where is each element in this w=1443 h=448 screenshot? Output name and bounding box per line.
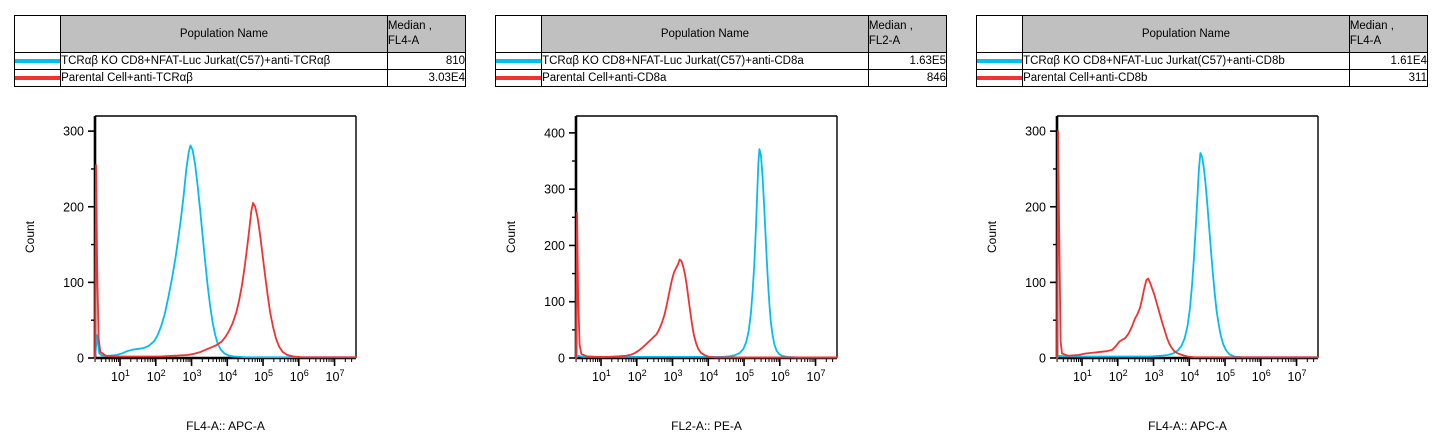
y-tick-label: 0: [1039, 352, 1046, 366]
x-tick-label: 103: [183, 368, 202, 384]
histogram-panel-3: Population Name Median , FL4-A TCRαβ KO …: [962, 0, 1443, 448]
y-tick-label: 100: [63, 276, 84, 290]
y-tick-label: 300: [1025, 125, 1046, 139]
y-tick-label: 100: [1025, 276, 1046, 290]
histogram-trace-cyan: [576, 149, 837, 358]
population-legend-table-1: Population Name Median , FL4-A TCRαβ KO …: [14, 15, 466, 87]
y-axis-title: Count: [23, 220, 37, 253]
x-tick-label: 107: [326, 368, 345, 384]
x-tick-label: 107: [1288, 368, 1307, 384]
header-median-line2: FL4-A: [1350, 34, 1427, 49]
header-median-line2: FL4-A: [388, 34, 465, 49]
x-tick-label: 105: [1216, 368, 1235, 384]
header-median: Median , FL4-A: [387, 16, 465, 53]
x-tick-label: 106: [1252, 368, 1271, 384]
header-median-line2: FL2-A: [869, 34, 946, 49]
header-swatch-blank: [977, 16, 1023, 53]
color-swatch-cyan: [496, 59, 541, 63]
y-tick-label: 300: [544, 183, 565, 197]
table-row: TCRαβ KO CD8+NFAT-Luc Jurkat(C57)+anti-C…: [496, 53, 947, 70]
y-tick-label: 200: [63, 200, 84, 214]
population-name-cell: Parental Cell+anti-CD8a: [542, 70, 869, 87]
y-axis-title: Count: [504, 220, 518, 253]
header-median: Median , FL4-A: [1349, 16, 1427, 53]
header-population-name: Population Name: [1023, 16, 1350, 53]
table-header-row: Population Name Median , FL4-A: [977, 16, 1428, 53]
population-name-cell: TCRαβ KO CD8+NFAT-Luc Jurkat(C57)+anti-C…: [542, 53, 869, 70]
x-tick-label: 105: [254, 368, 273, 384]
x-tick-label: 102: [1109, 368, 1128, 384]
legend-swatch-cell: [977, 53, 1023, 70]
histogram-svg-3: 0100200300101102103104105106107CountFL4-…: [962, 104, 1443, 448]
x-tick-label: 104: [1180, 368, 1199, 384]
x-tick-label: 107: [807, 368, 826, 384]
legend-swatch-cell: [496, 70, 542, 87]
x-tick-label: 101: [111, 368, 130, 384]
color-swatch-red: [496, 76, 541, 80]
histogram-panel-1: Population Name Median , FL4-A TCRαβ KO …: [0, 0, 481, 448]
table-row: Parental Cell+anti-CD8b 311: [977, 70, 1428, 87]
header-population-name: Population Name: [542, 16, 869, 53]
color-swatch-red: [15, 76, 60, 80]
population-name-cell: Parental Cell+anti-TCRαβ: [61, 70, 388, 87]
histogram-trace-red: [95, 165, 356, 358]
histogram-trace-red: [576, 213, 837, 358]
y-tick-label: 0: [77, 352, 84, 366]
table-row: TCRαβ KO CD8+NFAT-Luc Jurkat(C57)+anti-C…: [977, 53, 1428, 70]
header-median: Median , FL2-A: [868, 16, 946, 53]
table-row: TCRαβ KO CD8+NFAT-Luc Jurkat(C57)+anti-T…: [15, 53, 466, 70]
y-axis-title: Count: [985, 220, 999, 253]
color-swatch-cyan: [15, 59, 60, 63]
x-tick-label: 101: [1073, 368, 1092, 384]
median-value-cell: 3.03E4: [387, 70, 465, 87]
median-value-cell: 846: [868, 70, 946, 87]
legend-swatch-cell: [15, 70, 61, 87]
y-tick-label: 400: [544, 126, 565, 140]
x-tick-label: 104: [699, 368, 718, 384]
x-tick-label: 104: [218, 368, 237, 384]
population-name-cell: Parental Cell+anti-CD8b: [1023, 70, 1350, 87]
header-median-line1: Median ,: [388, 19, 465, 34]
table-row: Parental Cell+anti-TCRαβ 3.03E4: [15, 70, 466, 87]
histogram-panel-2: Population Name Median , FL2-A TCRαβ KO …: [481, 0, 962, 448]
color-swatch-cyan: [977, 59, 1022, 63]
legend-swatch-cell: [977, 70, 1023, 87]
median-value-cell: 1.63E5: [868, 53, 946, 70]
x-tick-label: 102: [628, 368, 647, 384]
x-axis-title: FL4-A:: APC-A: [1148, 419, 1227, 433]
population-name-cell: TCRαβ KO CD8+NFAT-Luc Jurkat(C57)+anti-T…: [61, 53, 388, 70]
x-tick-label: 103: [1145, 368, 1164, 384]
y-tick-label: 200: [544, 239, 565, 253]
histogram-svg-2: 0100200300400101102103104105106107CountF…: [481, 104, 962, 448]
histogram-plot-1: 0100200300101102103104105106107CountFL4-…: [0, 104, 481, 448]
y-tick-label: 300: [63, 125, 84, 139]
x-tick-label: 101: [592, 368, 611, 384]
header-median-line1: Median ,: [869, 19, 946, 34]
histogram-trace-cyan: [95, 145, 356, 358]
x-tick-label: 103: [664, 368, 683, 384]
table-row: Parental Cell+anti-CD8a 846: [496, 70, 947, 87]
x-tick-label: 105: [735, 368, 754, 384]
color-swatch-red: [977, 76, 1022, 80]
histogram-plot-3: 0100200300101102103104105106107CountFL4-…: [962, 104, 1443, 448]
median-value-cell: 1.61E4: [1349, 53, 1427, 70]
table-header-row: Population Name Median , FL4-A: [15, 16, 466, 53]
header-median-line1: Median ,: [1350, 19, 1427, 34]
x-axis-title: FL4-A:: APC-A: [186, 419, 265, 433]
histogram-plot-2: 0100200300400101102103104105106107CountF…: [481, 104, 962, 448]
histogram-panel-row: Population Name Median , FL4-A TCRαβ KO …: [0, 0, 1443, 448]
legend-swatch-cell: [15, 53, 61, 70]
legend-swatch-cell: [496, 53, 542, 70]
y-tick-label: 200: [1025, 200, 1046, 214]
x-axis-title: FL2-A:: PE-A: [671, 419, 742, 433]
header-swatch-blank: [15, 16, 61, 53]
population-legend-table-2: Population Name Median , FL2-A TCRαβ KO …: [495, 15, 947, 87]
header-population-name: Population Name: [61, 16, 388, 53]
y-tick-label: 0: [558, 352, 565, 366]
x-tick-label: 106: [771, 368, 790, 384]
header-swatch-blank: [496, 16, 542, 53]
population-name-cell: TCRαβ KO CD8+NFAT-Luc Jurkat(C57)+anti-C…: [1023, 53, 1350, 70]
population-legend-table-3: Population Name Median , FL4-A TCRαβ KO …: [976, 15, 1428, 87]
y-tick-label: 100: [544, 295, 565, 309]
histogram-trace-cyan: [1057, 153, 1318, 358]
table-header-row: Population Name Median , FL2-A: [496, 16, 947, 53]
histogram-svg-1: 0100200300101102103104105106107CountFL4-…: [0, 104, 481, 448]
x-tick-label: 102: [147, 368, 166, 384]
median-value-cell: 810: [387, 53, 465, 70]
x-tick-label: 106: [290, 368, 309, 384]
median-value-cell: 311: [1349, 70, 1427, 87]
